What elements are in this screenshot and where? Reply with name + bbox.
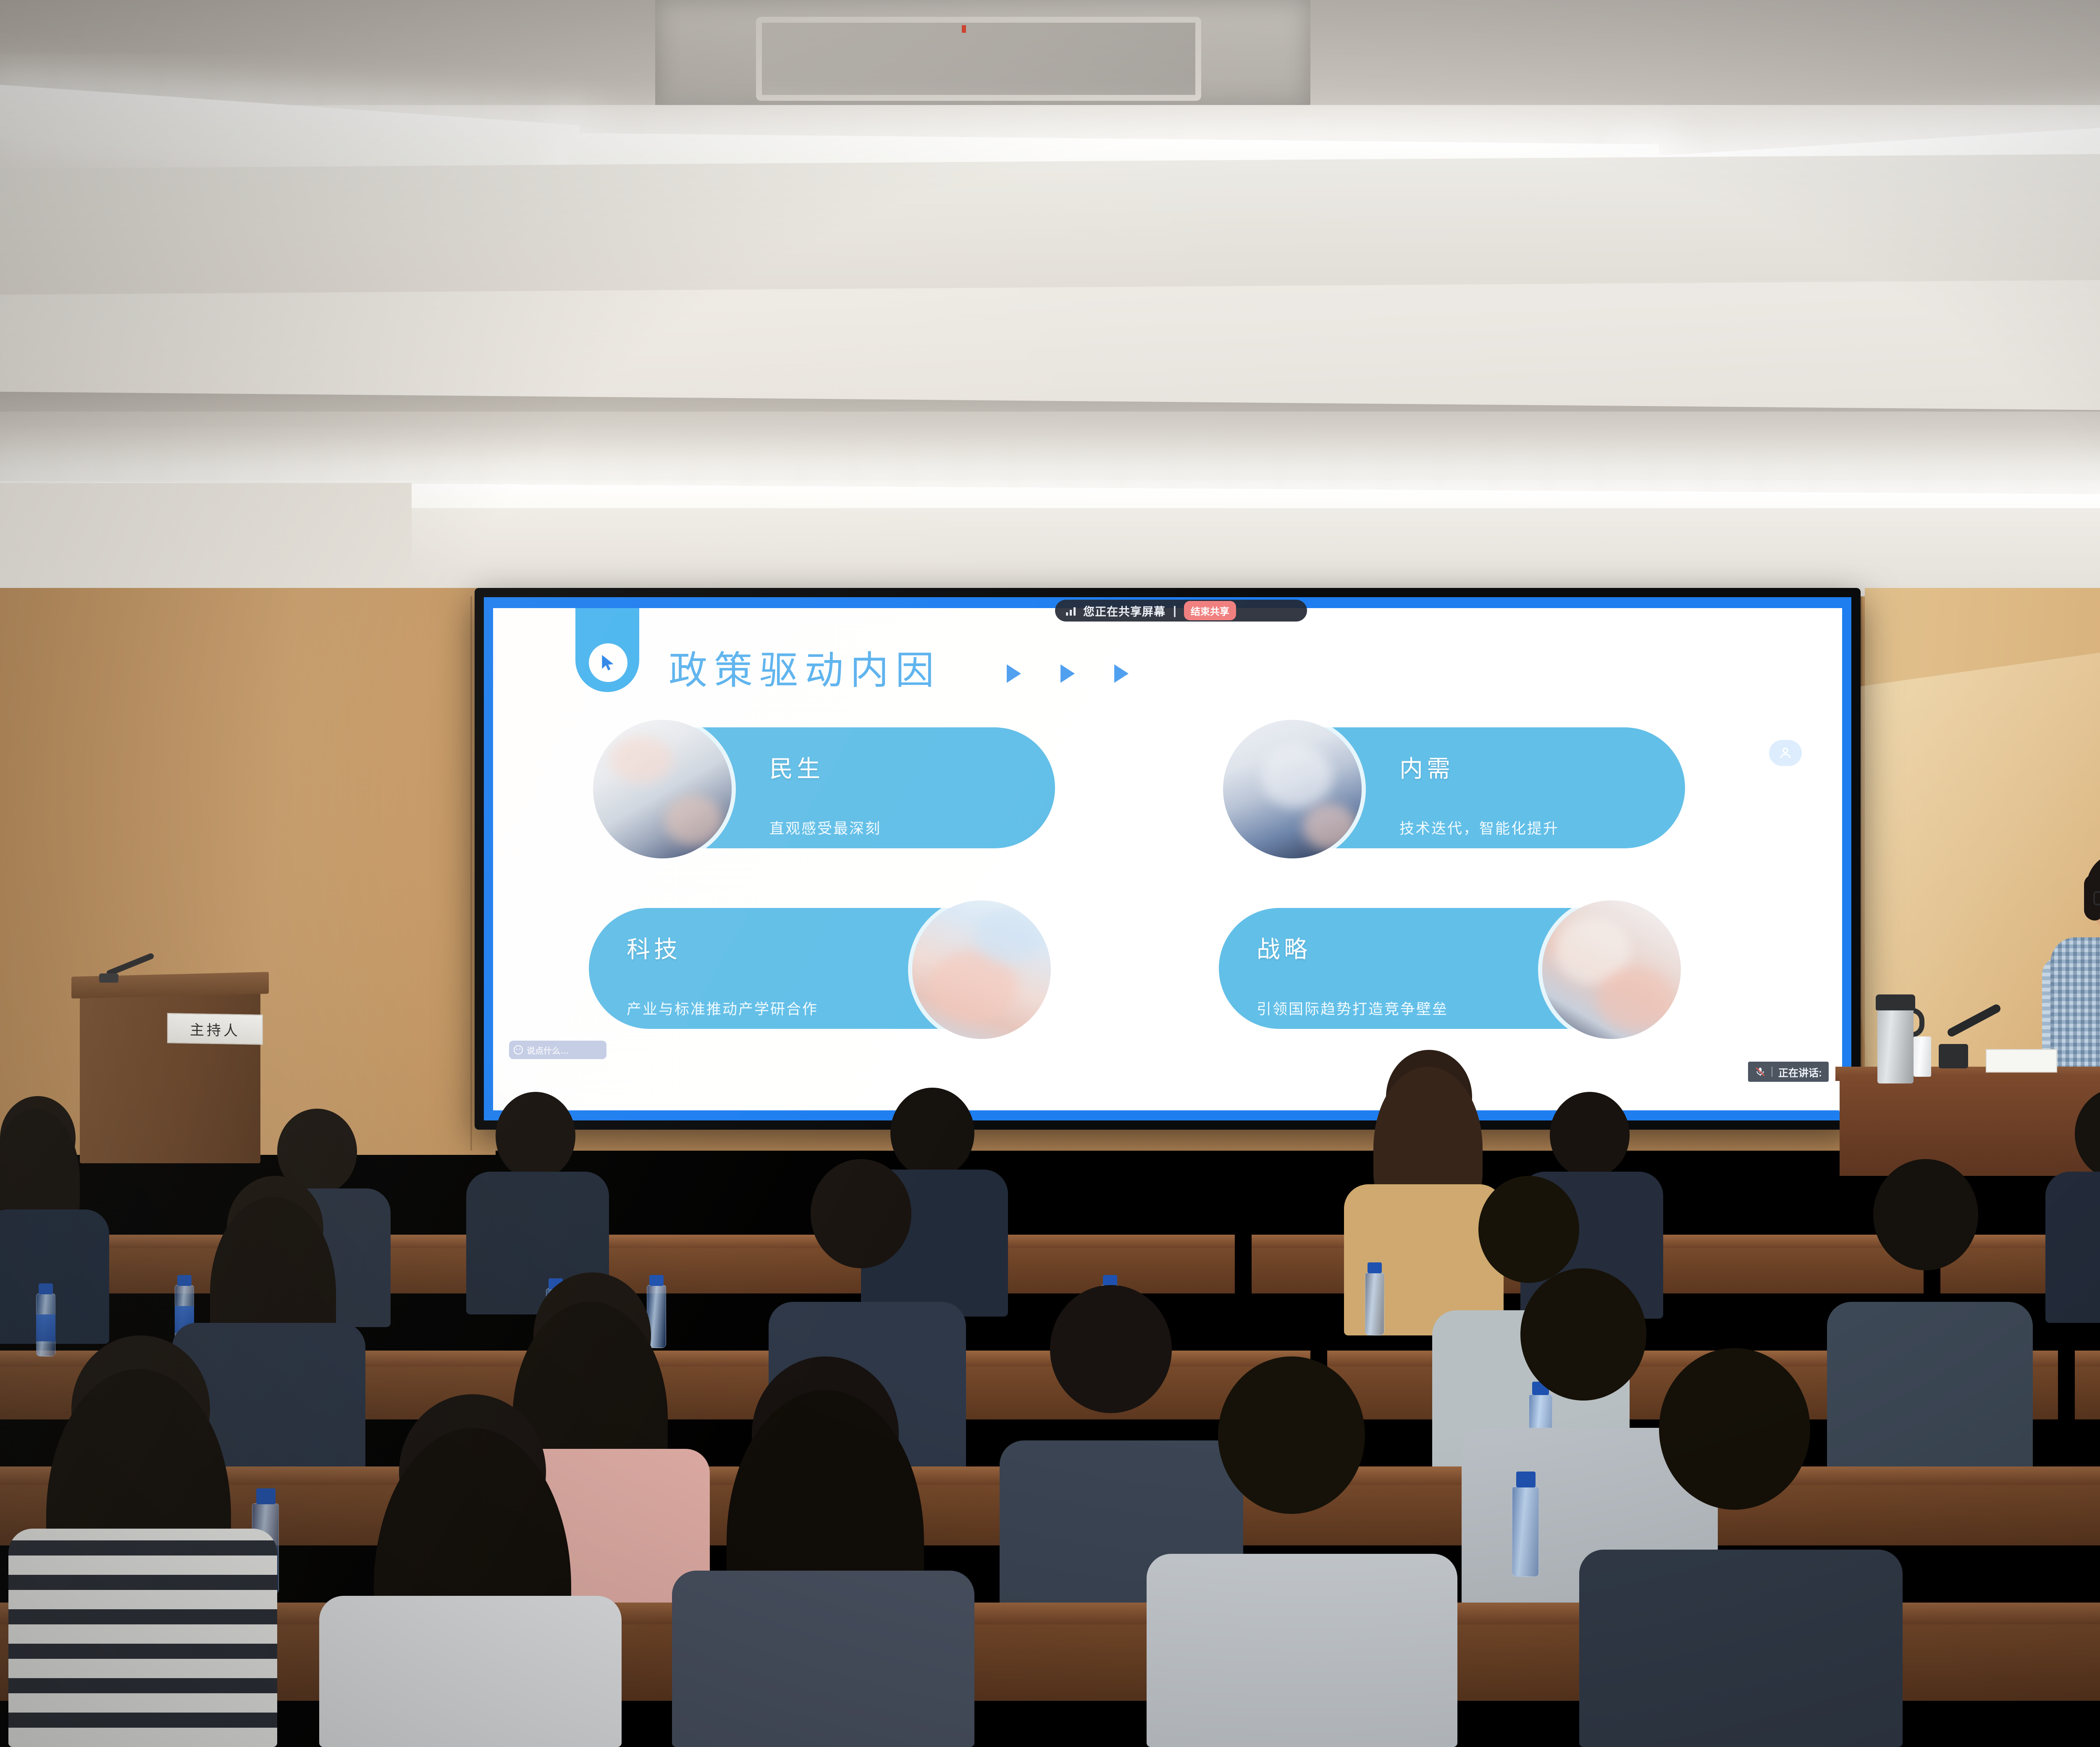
bottle-cap [1103, 1275, 1117, 1286]
audience-desk [2075, 1361, 2100, 1419]
presenter-glasses [2093, 891, 2100, 905]
share-bar-separator: | [1173, 604, 1176, 617]
audience-desk-edge [2075, 1351, 2100, 1367]
card-heading: 民生 [769, 750, 881, 784]
end-share-button[interactable]: 结束共享 [1184, 601, 1236, 620]
triangle-right-icon [1060, 664, 1075, 683]
slide-card: 科技 产业与标准推动产学研合作 [589, 908, 1055, 1029]
cursor-arrow-icon [599, 652, 617, 673]
card-text: 战略 引领国际趋势打造竞争壁垒 [1257, 931, 1448, 1019]
card-subtitle: 技术迭代，智能化提升 [1399, 817, 1559, 838]
screen-share-status-bar: 您正在共享屏幕 | 结束共享 [1055, 600, 1307, 622]
card-subtitle: 产业与标准推动产学研合作 [627, 997, 818, 1019]
slide-card: 战略 引领国际趋势打造竞争壁垒 [1219, 908, 1685, 1029]
indicator-divider [1772, 1067, 1772, 1077]
water-bottle-icon [1365, 1272, 1384, 1335]
card-text: 民生 直观感受最深刻 [769, 750, 881, 838]
mic-muted-icon [1755, 1066, 1766, 1077]
nameplate-text: 主持人 [190, 1018, 240, 1039]
screenshot-root: 您正在共享屏幕 | 结束共享 政策驱动内因 [0, 0, 2100, 1747]
avatar-glyph [1778, 745, 1793, 761]
shared-screen[interactable]: 您正在共享屏幕 | 结束共享 政策驱动内因 [484, 597, 1851, 1120]
slide-card: 民生 直观感受最深刻 [589, 727, 1055, 848]
bottle-cap [1516, 1472, 1536, 1487]
bottle-cap [177, 1275, 192, 1286]
smiley-face-icon [514, 1045, 523, 1054]
card-heading: 战略 [1257, 931, 1448, 965]
microphone-base [99, 973, 118, 983]
card-text: 科技 产业与标准推动产学研合作 [627, 931, 818, 1019]
slide-title: 政策驱动内因 [669, 639, 941, 695]
logo-circle [589, 643, 627, 682]
water-bottle-icon [1512, 1487, 1539, 1577]
wall-seam [470, 596, 472, 1151]
bottle-cap [649, 1275, 664, 1286]
card-image [593, 720, 732, 858]
audience-desk-edge [1882, 1603, 2100, 1624]
bottle-cap [1368, 1262, 1382, 1273]
cup [1914, 1036, 1931, 1077]
card-image [1542, 900, 1681, 1039]
triangle-right-icon [1007, 664, 1021, 683]
card-image [1223, 720, 1362, 858]
card-subtitle: 直观感受最深刻 [769, 817, 881, 838]
bottle-label [36, 1314, 55, 1341]
thermos-flask-icon [1877, 1004, 1914, 1083]
comment-placeholder: 说点什么… [527, 1044, 569, 1056]
bottle-cap [39, 1283, 53, 1294]
desk-nameplate [1986, 1049, 2057, 1073]
share-status-text: 您正在共享屏幕 [1083, 603, 1165, 619]
audience-desk [1882, 1617, 2100, 1701]
comment-input[interactable]: 说点什么… [509, 1041, 606, 1059]
air-vent-grille [756, 17, 1201, 101]
user-avatar-icon[interactable] [1769, 740, 1802, 766]
bottle-cap [256, 1488, 276, 1504]
thermos-lid [1876, 994, 1915, 1010]
ceiling-beam [0, 150, 2100, 295]
card-image [912, 900, 1051, 1039]
slide-card: 内需 技术迭代，智能化提升 [1219, 727, 1685, 848]
speaking-label: 正在讲话: [1778, 1065, 1822, 1079]
triangle-right-icon [1114, 664, 1129, 683]
card-heading: 内需 [1399, 750, 1559, 784]
head-table [1840, 1075, 2100, 1176]
card-text: 内需 技术迭代，智能化提升 [1399, 750, 1559, 838]
podium-nameplate: 主持人 [167, 1013, 263, 1045]
speaking-indicator: 正在讲话: [1748, 1062, 1829, 1082]
vent-indicator-light [962, 25, 966, 33]
card-subtitle: 引领国际趋势打造竞争壁垒 [1257, 997, 1448, 1019]
title-arrows [1007, 664, 1129, 683]
signal-bars-icon [1066, 606, 1076, 616]
microphone-base [1939, 1044, 1968, 1068]
card-heading: 科技 [627, 931, 818, 965]
